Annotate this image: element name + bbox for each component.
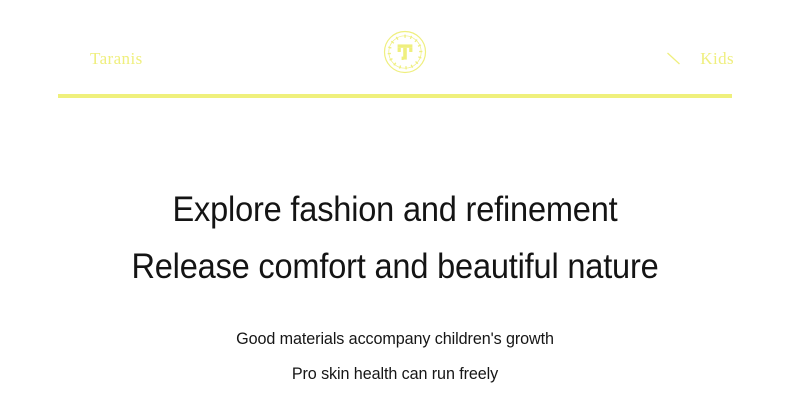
hero-section: Explore fashion and refinement Release c…	[0, 99, 790, 403]
hero-title-line-1: Explore fashion and refinement	[28, 189, 763, 231]
header-divider	[58, 94, 732, 98]
hero-subtitle-line-1: Good materials accompany children's grow…	[20, 328, 771, 350]
nav-link-kids[interactable]: Kids	[700, 47, 734, 71]
diagonal-slash-icon	[666, 51, 682, 67]
circular-seal-logo[interactable]	[383, 30, 427, 74]
hero-subtitle-line-2: Pro skin health can run freely	[20, 363, 771, 385]
hero-title-line-2: Release comfort and beautiful nature	[28, 246, 763, 288]
header-nav: Kids	[666, 46, 734, 72]
site-header: Taranis	[0, 0, 790, 99]
brand-name[interactable]: Taranis	[90, 47, 143, 71]
